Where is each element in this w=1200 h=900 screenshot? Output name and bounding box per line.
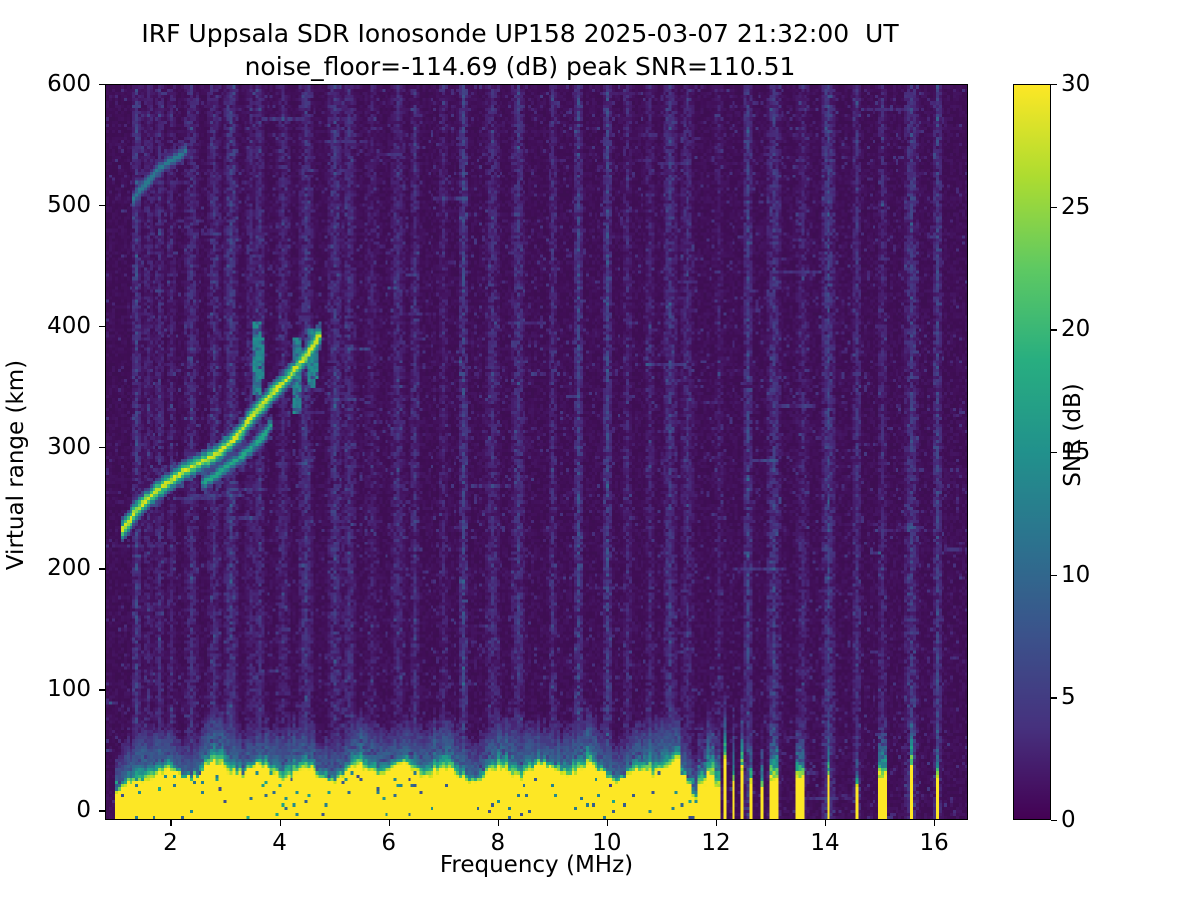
y-tick-mark	[99, 447, 105, 448]
colorbar-tick-label: 30	[1061, 71, 1090, 97]
y-axis-label: Virtual range (km)	[3, 255, 29, 675]
y-tick-label: 100	[11, 676, 91, 702]
y-tick-mark	[99, 84, 105, 85]
colorbar-tick-label: 10	[1061, 562, 1090, 588]
y-tick-label: 500	[11, 192, 91, 218]
x-tick-mark	[389, 820, 390, 826]
title-line-primary: IRF Uppsala SDR Ionosonde UP158 2025-03-…	[0, 18, 1040, 51]
x-tick-mark	[716, 820, 717, 826]
colorbar-tick-mark	[1051, 329, 1057, 330]
x-tick-mark	[280, 820, 281, 826]
figure-title: IRF Uppsala SDR Ionosonde UP158 2025-03-…	[0, 18, 1040, 83]
x-tick-mark	[934, 820, 935, 826]
ionogram-heatmap	[106, 85, 967, 819]
colorbar-tick-mark	[1051, 452, 1057, 453]
y-tick-mark	[99, 568, 105, 569]
ionogram-figure: IRF Uppsala SDR Ionosonde UP158 2025-03-…	[0, 0, 1200, 900]
y-tick-mark	[99, 689, 105, 690]
x-tick-mark	[170, 820, 171, 826]
y-tick-label: 600	[11, 71, 91, 97]
colorbar: 051015202530 SNR (dB)	[1013, 84, 1051, 820]
colorbar-tick-label: 0	[1061, 807, 1076, 833]
y-tick-mark	[99, 326, 105, 327]
colorbar-tick-mark	[1051, 575, 1057, 576]
title-line-secondary: noise_floor=-114.69 (dB) peak SNR=110.51	[0, 51, 1040, 84]
colorbar-tick-mark	[1051, 697, 1057, 698]
colorbar-gradient	[1013, 84, 1051, 820]
colorbar-label: SNR (dB)	[1060, 315, 1086, 555]
colorbar-tick-label: 5	[1061, 684, 1076, 710]
ionogram-plot-area[interactable]	[105, 84, 968, 820]
colorbar-tick-mark	[1051, 84, 1057, 85]
colorbar-tick-mark	[1051, 820, 1057, 821]
colorbar-tick-mark	[1051, 207, 1057, 208]
y-tick-mark	[99, 205, 105, 206]
x-axis-label: Frequency (MHz)	[105, 852, 968, 878]
x-tick-mark	[607, 820, 608, 826]
x-tick-mark	[498, 820, 499, 826]
x-tick-mark	[825, 820, 826, 826]
colorbar-tick-label: 25	[1061, 194, 1090, 220]
y-tick-label: 0	[11, 797, 91, 823]
y-tick-mark	[99, 810, 105, 811]
